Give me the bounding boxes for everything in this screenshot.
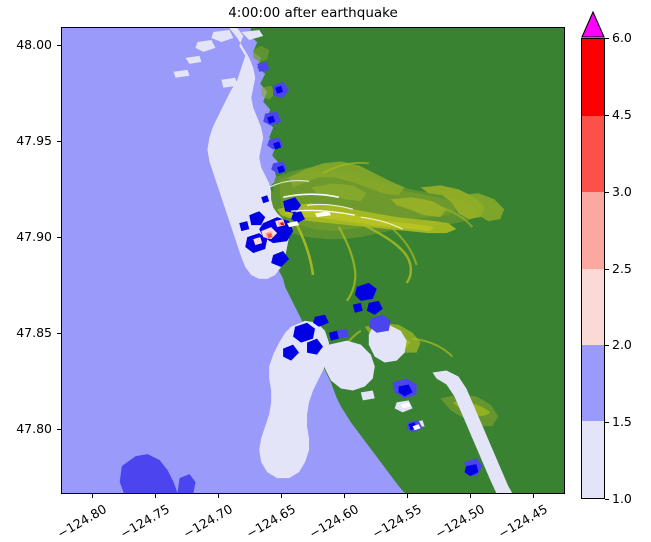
colorbar-band-2 xyxy=(582,268,604,345)
xtick-label: −124.75 xyxy=(118,502,171,540)
colorbar-band-0 xyxy=(582,421,604,498)
y-axis-tick-labels: 48.00 47.95 47.90 47.85 47.80 xyxy=(0,27,52,494)
xtick-mark xyxy=(533,494,534,498)
xtick-label: −124.70 xyxy=(181,502,234,540)
figure-canvas: 4:00:00 after earthquake xyxy=(0,0,651,541)
xtick-label: −124.65 xyxy=(244,502,297,540)
ytick-label: 47.90 xyxy=(16,231,52,243)
colorbar-band-3 xyxy=(582,191,604,268)
cbar-label: 3.0 xyxy=(612,186,632,198)
map-axes[interactable] xyxy=(61,27,565,494)
xtick-label: −124.60 xyxy=(307,502,360,540)
page-title: 4:00:00 after earthquake xyxy=(61,4,565,22)
ytick-label: 47.95 xyxy=(16,135,52,147)
xtick-label: −124.50 xyxy=(433,502,486,540)
cbar-tick xyxy=(605,192,609,193)
xtick-mark xyxy=(218,494,219,498)
cbar-tick xyxy=(605,422,609,423)
colorbar-over-arrow xyxy=(581,11,605,38)
y-axis-tick-marks xyxy=(53,27,61,494)
cbar-label: 2.0 xyxy=(612,339,632,351)
xtick-mark xyxy=(344,494,345,498)
inundation-heatmap xyxy=(62,28,564,493)
cbar-tick xyxy=(605,115,609,116)
xtick-mark xyxy=(470,494,471,498)
cbar-tick xyxy=(605,345,609,346)
cbar-label: 6.0 xyxy=(612,32,632,44)
colorbar-gradient xyxy=(581,38,605,499)
x-axis-tick-marks xyxy=(61,494,565,502)
cbar-label: 4.5 xyxy=(612,109,632,121)
xtick-mark xyxy=(92,494,93,498)
colorbar-band-5 xyxy=(582,38,604,114)
xtick-label: −124.55 xyxy=(370,502,423,540)
xtick-label: −124.80 xyxy=(55,502,108,540)
colorbar-band-1 xyxy=(582,344,604,421)
ytick-mark xyxy=(57,45,61,46)
colorbar-tick-labels: 6.0 4.5 3.0 2.5 2.0 1.5 1.0 xyxy=(612,38,651,499)
cbar-tick xyxy=(605,499,609,500)
ytick-label: 47.85 xyxy=(16,327,52,339)
ytick-mark xyxy=(57,333,61,334)
colorbar[interactable] xyxy=(581,38,605,499)
colorbar-band-4 xyxy=(582,114,604,191)
xtick-mark xyxy=(407,494,408,498)
ytick-mark xyxy=(57,429,61,430)
cbar-tick xyxy=(605,269,609,270)
cbar-label: 2.5 xyxy=(612,263,632,275)
ytick-label: 47.80 xyxy=(16,423,52,435)
x-axis-tick-labels: −124.80 −124.75 −124.70 −124.65 −124.60 … xyxy=(61,502,565,542)
cbar-label: 1.0 xyxy=(612,493,632,505)
cbar-tick xyxy=(605,38,609,39)
ytick-mark xyxy=(57,237,61,238)
ytick-label: 48.00 xyxy=(16,39,52,51)
xtick-mark xyxy=(281,494,282,498)
xtick-mark xyxy=(155,494,156,498)
colorbar-tick-marks xyxy=(605,38,611,499)
cbar-label: 1.5 xyxy=(612,416,632,428)
xtick-label: −124.45 xyxy=(496,502,549,540)
ytick-mark xyxy=(57,141,61,142)
